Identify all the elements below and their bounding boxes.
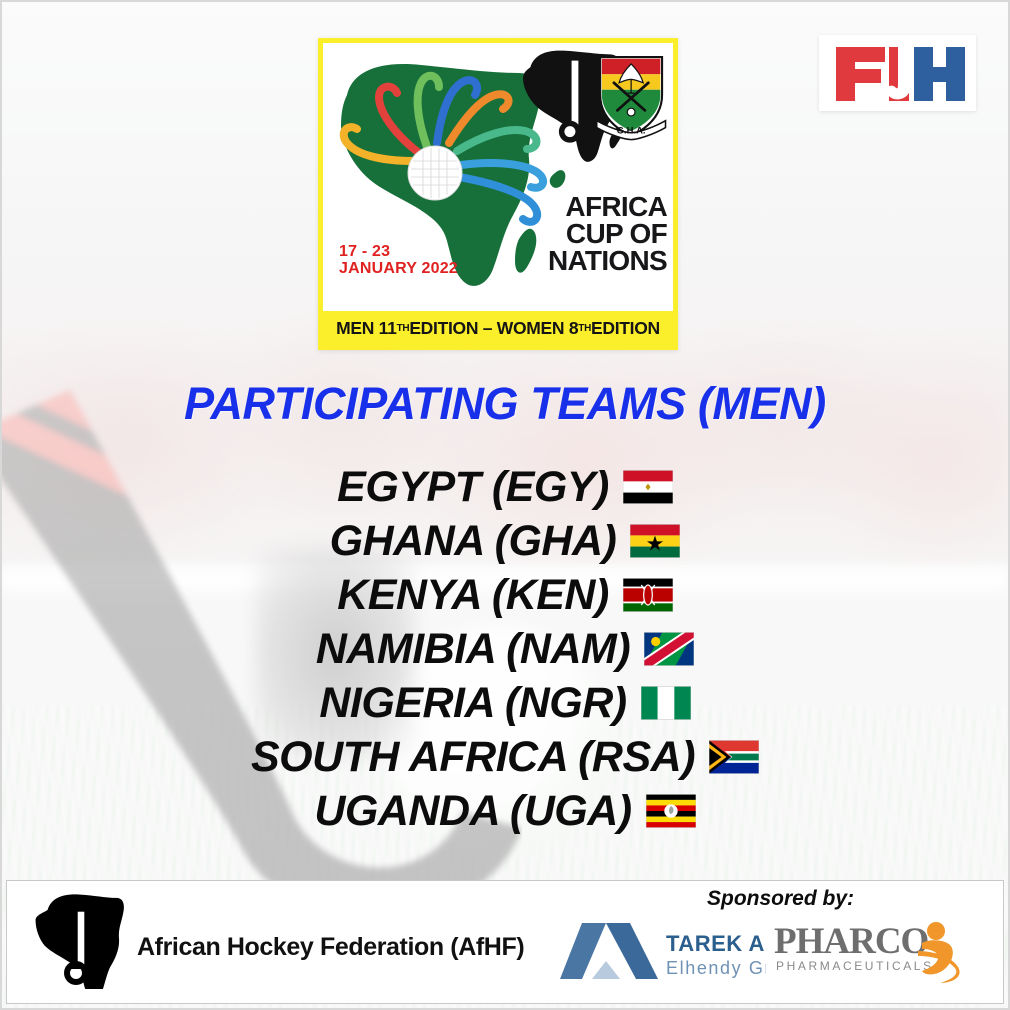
african-hockey-federation-logo-icon xyxy=(35,893,131,989)
edition-banner-suffix: EDITION xyxy=(591,318,660,339)
team-row-south-africa: SOUTH AFRICA (RSA) xyxy=(251,730,759,784)
team-row-ghana: GHANA (GHA) xyxy=(330,514,681,568)
event-dates-line-2: JANUARY 2022 xyxy=(339,260,458,277)
event-logo-title-line-3: NATIONS xyxy=(499,247,667,274)
page-title: PARTICIPATING TEAMS (MEN) xyxy=(2,378,1008,430)
event-logo: G.H.A. AFRICA CUP OF NATIONS 17 - 23 JAN… xyxy=(318,38,678,350)
sponsored-by-label: Sponsored by: xyxy=(707,887,854,911)
svg-text:G.H.A.: G.H.A. xyxy=(617,126,646,137)
svg-text:PHARCO: PHARCO xyxy=(774,921,928,962)
team-name-ghana: GHANA (GHA) xyxy=(330,517,617,566)
south-africa-flag-icon xyxy=(709,740,759,774)
hockey-ball-icon xyxy=(408,146,462,200)
team-row-namibia: NAMIBIA (NAM) xyxy=(316,622,694,676)
ghana-flag-icon xyxy=(630,524,680,558)
event-logo-title: AFRICA CUP OF NATIONS xyxy=(499,193,667,274)
event-dates-line-1: 17 - 23 xyxy=(339,243,458,260)
team-name-kenya: KENYA (KEN) xyxy=(337,571,609,620)
event-logo-title-line-1: AFRICA xyxy=(499,193,667,220)
team-name-egypt: EGYPT (EGY) xyxy=(337,463,609,512)
egypt-flag-icon xyxy=(623,470,673,504)
team-name-nigeria: NIGERIA (NGR) xyxy=(319,679,626,728)
fih-logo-icon xyxy=(819,35,976,111)
event-logo-title-line-2: CUP OF xyxy=(499,220,667,247)
participating-teams-list: EGYPT (EGY) GHANA (GHA) KENYA (KEN) xyxy=(2,460,1008,838)
namibia-flag-icon xyxy=(644,632,694,666)
team-row-kenya: KENYA (KEN) xyxy=(337,568,673,622)
svg-text:Elhendy Group: Elhendy Group xyxy=(666,958,766,978)
team-row-nigeria: NIGERIA (NGR) xyxy=(319,676,690,730)
nigeria-flag-icon xyxy=(641,686,691,720)
pharco-pharmaceuticals-logo: PHARCO PHARMACEUTICALS xyxy=(772,915,984,985)
event-edition-banner: MEN 11TH EDITION – WOMEN 8TH EDITION xyxy=(323,311,673,345)
team-name-south-africa: SOUTH AFRICA (RSA) xyxy=(251,733,695,782)
svg-text:PHARMACEUTICALS: PHARMACEUTICALS xyxy=(776,959,934,973)
fih-logo xyxy=(819,35,976,111)
team-name-uganda: UGANDA (UGA) xyxy=(314,787,631,836)
kenya-flag-icon xyxy=(623,578,673,612)
team-row-egypt: EGYPT (EGY) xyxy=(337,460,673,514)
edition-banner-middle: EDITION – WOMEN 8 xyxy=(409,318,578,339)
ghana-hockey-association-badge: G.H.A. xyxy=(597,57,666,140)
team-name-namibia: NAMIBIA (NAM) xyxy=(316,625,630,674)
poster-canvas: G.H.A. AFRICA CUP OF NATIONS 17 - 23 JAN… xyxy=(0,0,1010,1010)
tarek-amer-elhendy-group-logo: TAREK AMER Elhendy Group xyxy=(560,917,766,983)
edition-banner-sup-1: TH xyxy=(397,323,410,334)
svg-text:TAREK AMER: TAREK AMER xyxy=(666,931,766,956)
footer-bar: African Hockey Federation (AfHF) Sponsor… xyxy=(6,880,1004,1004)
uganda-flag-icon xyxy=(646,794,696,828)
team-row-uganda: UGANDA (UGA) xyxy=(314,784,695,838)
federation-name: African Hockey Federation (AfHF) xyxy=(137,933,524,962)
edition-banner-prefix: MEN 11 xyxy=(336,318,396,339)
event-dates: 17 - 23 JANUARY 2022 xyxy=(339,243,458,278)
edition-banner-sup-2: TH xyxy=(578,323,591,334)
